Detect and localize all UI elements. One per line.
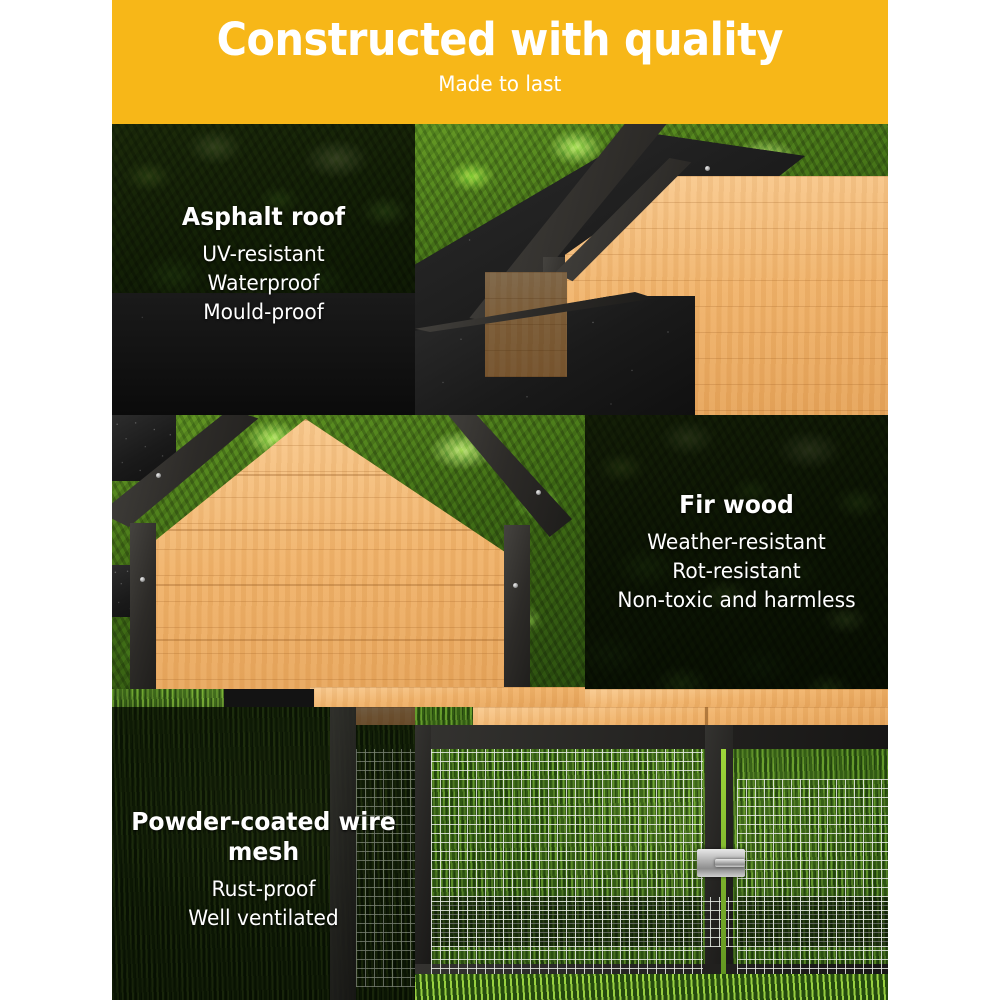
caption-feature: Non-toxic and harmless xyxy=(591,586,882,615)
caption-heading: Powder-coated wire mesh xyxy=(121,807,406,867)
top-wood-rail xyxy=(473,707,888,727)
post-screw xyxy=(140,577,145,582)
feature-panel-wire-mesh: Powder-coated wire mesh Rust-proof Well … xyxy=(112,707,888,1000)
caption-feature: Waterproof xyxy=(118,269,409,298)
shadow-strip xyxy=(224,689,314,707)
photo-fir-wood xyxy=(112,415,585,707)
caption-wire-mesh: Powder-coated wire mesh Rust-proof Well … xyxy=(112,807,415,933)
mesh-panel-right xyxy=(737,779,888,987)
banner-title: Constructed with quality xyxy=(217,14,783,66)
caption-feature: Weather-resistant xyxy=(591,528,882,557)
alcove-wood xyxy=(485,272,567,377)
caption-feature: UV-resistant xyxy=(118,240,409,269)
feature-panel-asphalt-roof: Asphalt roof UV-resistant Waterproof Mou… xyxy=(112,124,888,415)
rafter-screw xyxy=(536,490,541,495)
header-banner: Constructed with quality Made to last xyxy=(112,0,888,124)
caption-heading: Fir wood xyxy=(594,490,879,520)
caption-feature: Mould-proof xyxy=(118,298,409,327)
rafter-screw xyxy=(156,473,161,478)
feature-panel-fir-wood: Fir wood Weather-resistant Rot-resistant… xyxy=(112,415,888,707)
banner-subtitle: Made to last xyxy=(438,72,561,96)
ridge-screw xyxy=(705,166,710,171)
caption-asphalt-roof: Asphalt roof UV-resistant Waterproof Mou… xyxy=(112,202,415,327)
hutch-frame-top xyxy=(415,725,888,749)
caption-feature: Well ventilated xyxy=(118,904,409,933)
base-rail xyxy=(310,687,585,707)
hutch-frame-left-post xyxy=(415,725,431,1000)
caption-fir-wood: Fir wood Weather-resistant Rot-resistant… xyxy=(585,490,888,615)
mesh-panel-left xyxy=(431,749,703,987)
grass-foreground xyxy=(415,974,888,1000)
caption-feature: Rot-resistant xyxy=(591,557,882,586)
latch-bolt xyxy=(715,859,745,867)
top-rail-seam xyxy=(705,707,708,727)
top-wood-rail-dim xyxy=(356,707,415,725)
caption-feature: Rust-proof xyxy=(118,875,409,904)
caption-heading: Asphalt roof xyxy=(121,202,406,232)
photo-asphalt-roof xyxy=(415,124,888,415)
mesh-overlay-lower xyxy=(431,897,888,947)
photo-wire-mesh xyxy=(415,707,888,1000)
corner-post-right xyxy=(504,525,530,707)
product-infographic: Constructed with quality Made to last xyxy=(0,0,1000,1000)
wood-base-foreground xyxy=(585,689,888,707)
post-screw xyxy=(513,583,518,588)
corner-post-left xyxy=(130,523,156,707)
